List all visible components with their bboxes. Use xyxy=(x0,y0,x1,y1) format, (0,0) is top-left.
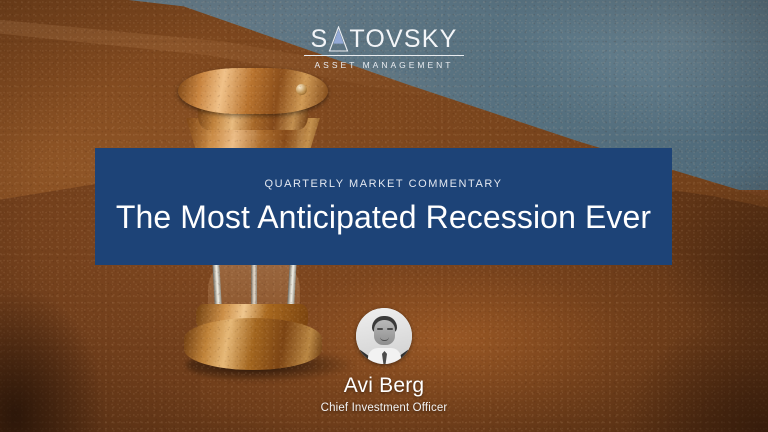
avatar-face xyxy=(374,320,395,345)
triangle-a-icon xyxy=(328,26,349,52)
brand-logo: S TOVSKY ASSET MANAGEMENT xyxy=(296,26,472,70)
logo-letters-tovsky: TOVSKY xyxy=(349,27,457,52)
author-role: Chief Investment Officer xyxy=(0,402,768,414)
avatar-brow-left xyxy=(377,328,383,330)
banner-eyebrow: QUARTERLY MARKET COMMENTARY xyxy=(264,178,502,190)
title-banner: QUARTERLY MARKET COMMENTARY The Most Ant… xyxy=(95,148,672,265)
author-name: Avi Berg xyxy=(0,374,768,398)
banner-headline: The Most Anticipated Recession Ever xyxy=(116,199,651,236)
logo-wordmark: S TOVSKY xyxy=(296,26,472,52)
author-block: Avi Berg Chief Investment Officer xyxy=(0,308,768,414)
logo-divider-rule xyxy=(304,55,464,56)
avatar-brow-right xyxy=(387,328,393,330)
logo-tagline: ASSET MANAGEMENT xyxy=(296,60,472,70)
logo-letter-s: S xyxy=(310,27,328,52)
title-slide: S TOVSKY ASSET MANAGEMENT QUARTERLY MARK… xyxy=(0,0,768,432)
avatar xyxy=(356,308,412,364)
